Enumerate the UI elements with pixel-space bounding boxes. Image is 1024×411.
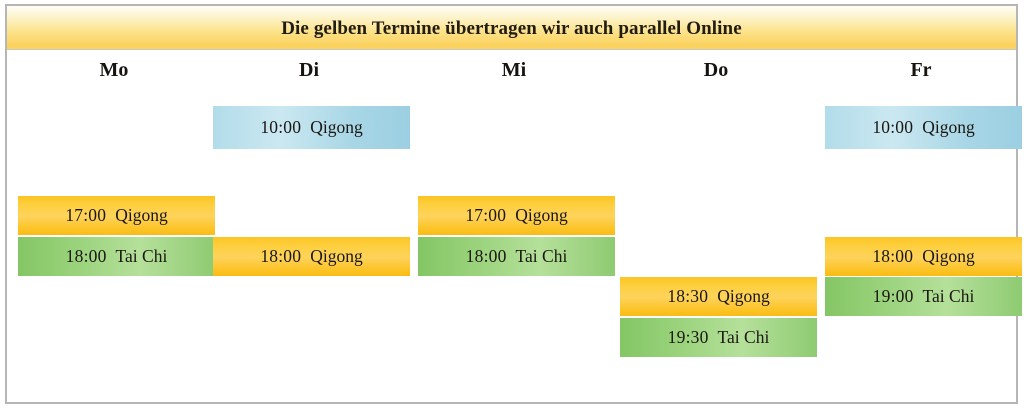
event-block[interactable]: 18:00Tai Chi bbox=[418, 237, 615, 276]
event-time: 10:00 bbox=[872, 117, 913, 137]
event-title: Tai Chi bbox=[516, 246, 568, 266]
event-block[interactable]: 17:00Qigong bbox=[18, 196, 215, 235]
event-title: Tai Chi bbox=[923, 286, 975, 306]
event-block[interactable]: 19:00Tai Chi bbox=[825, 277, 1022, 316]
event-time: 18:00 bbox=[260, 246, 301, 266]
event-time: 19:00 bbox=[873, 286, 914, 306]
event-time: 18:00 bbox=[66, 246, 107, 266]
event-block[interactable]: 17:00Qigong bbox=[418, 196, 615, 235]
event-title: Qigong bbox=[115, 205, 168, 225]
event-title: Qigong bbox=[310, 246, 363, 266]
event-block[interactable]: 10:00Qigong bbox=[825, 106, 1022, 149]
event-time: 10:00 bbox=[260, 117, 301, 137]
event-time: 18:00 bbox=[872, 246, 913, 266]
event-title: Tai Chi bbox=[116, 246, 168, 266]
event-block[interactable]: 18:30Qigong bbox=[620, 277, 817, 316]
event-time: 18:00 bbox=[466, 246, 507, 266]
event-time: 19:30 bbox=[668, 327, 709, 347]
event-block[interactable]: 18:00Qigong bbox=[825, 237, 1022, 276]
event-time: 17:00 bbox=[65, 205, 106, 225]
event-block[interactable]: 19:30Tai Chi bbox=[620, 318, 817, 357]
event-time: 17:00 bbox=[465, 205, 506, 225]
event-block[interactable]: 10:00Qigong bbox=[213, 106, 410, 149]
event-title: Qigong bbox=[717, 286, 770, 306]
event-block[interactable]: 18:00Tai Chi bbox=[18, 237, 215, 276]
event-title: Tai Chi bbox=[718, 327, 770, 347]
event-time: 18:30 bbox=[667, 286, 708, 306]
schedule-grid: 10:00Qigong10:00Qigong17:00Qigong17:00Qi… bbox=[7, 6, 1016, 402]
event-title: Qigong bbox=[922, 117, 975, 137]
event-title: Qigong bbox=[922, 246, 975, 266]
event-title: Qigong bbox=[515, 205, 568, 225]
event-block[interactable]: 18:00Qigong bbox=[213, 237, 410, 276]
schedule-frame: Die gelben Termine übertragen wir auch p… bbox=[5, 4, 1018, 404]
event-title: Qigong bbox=[310, 117, 363, 137]
